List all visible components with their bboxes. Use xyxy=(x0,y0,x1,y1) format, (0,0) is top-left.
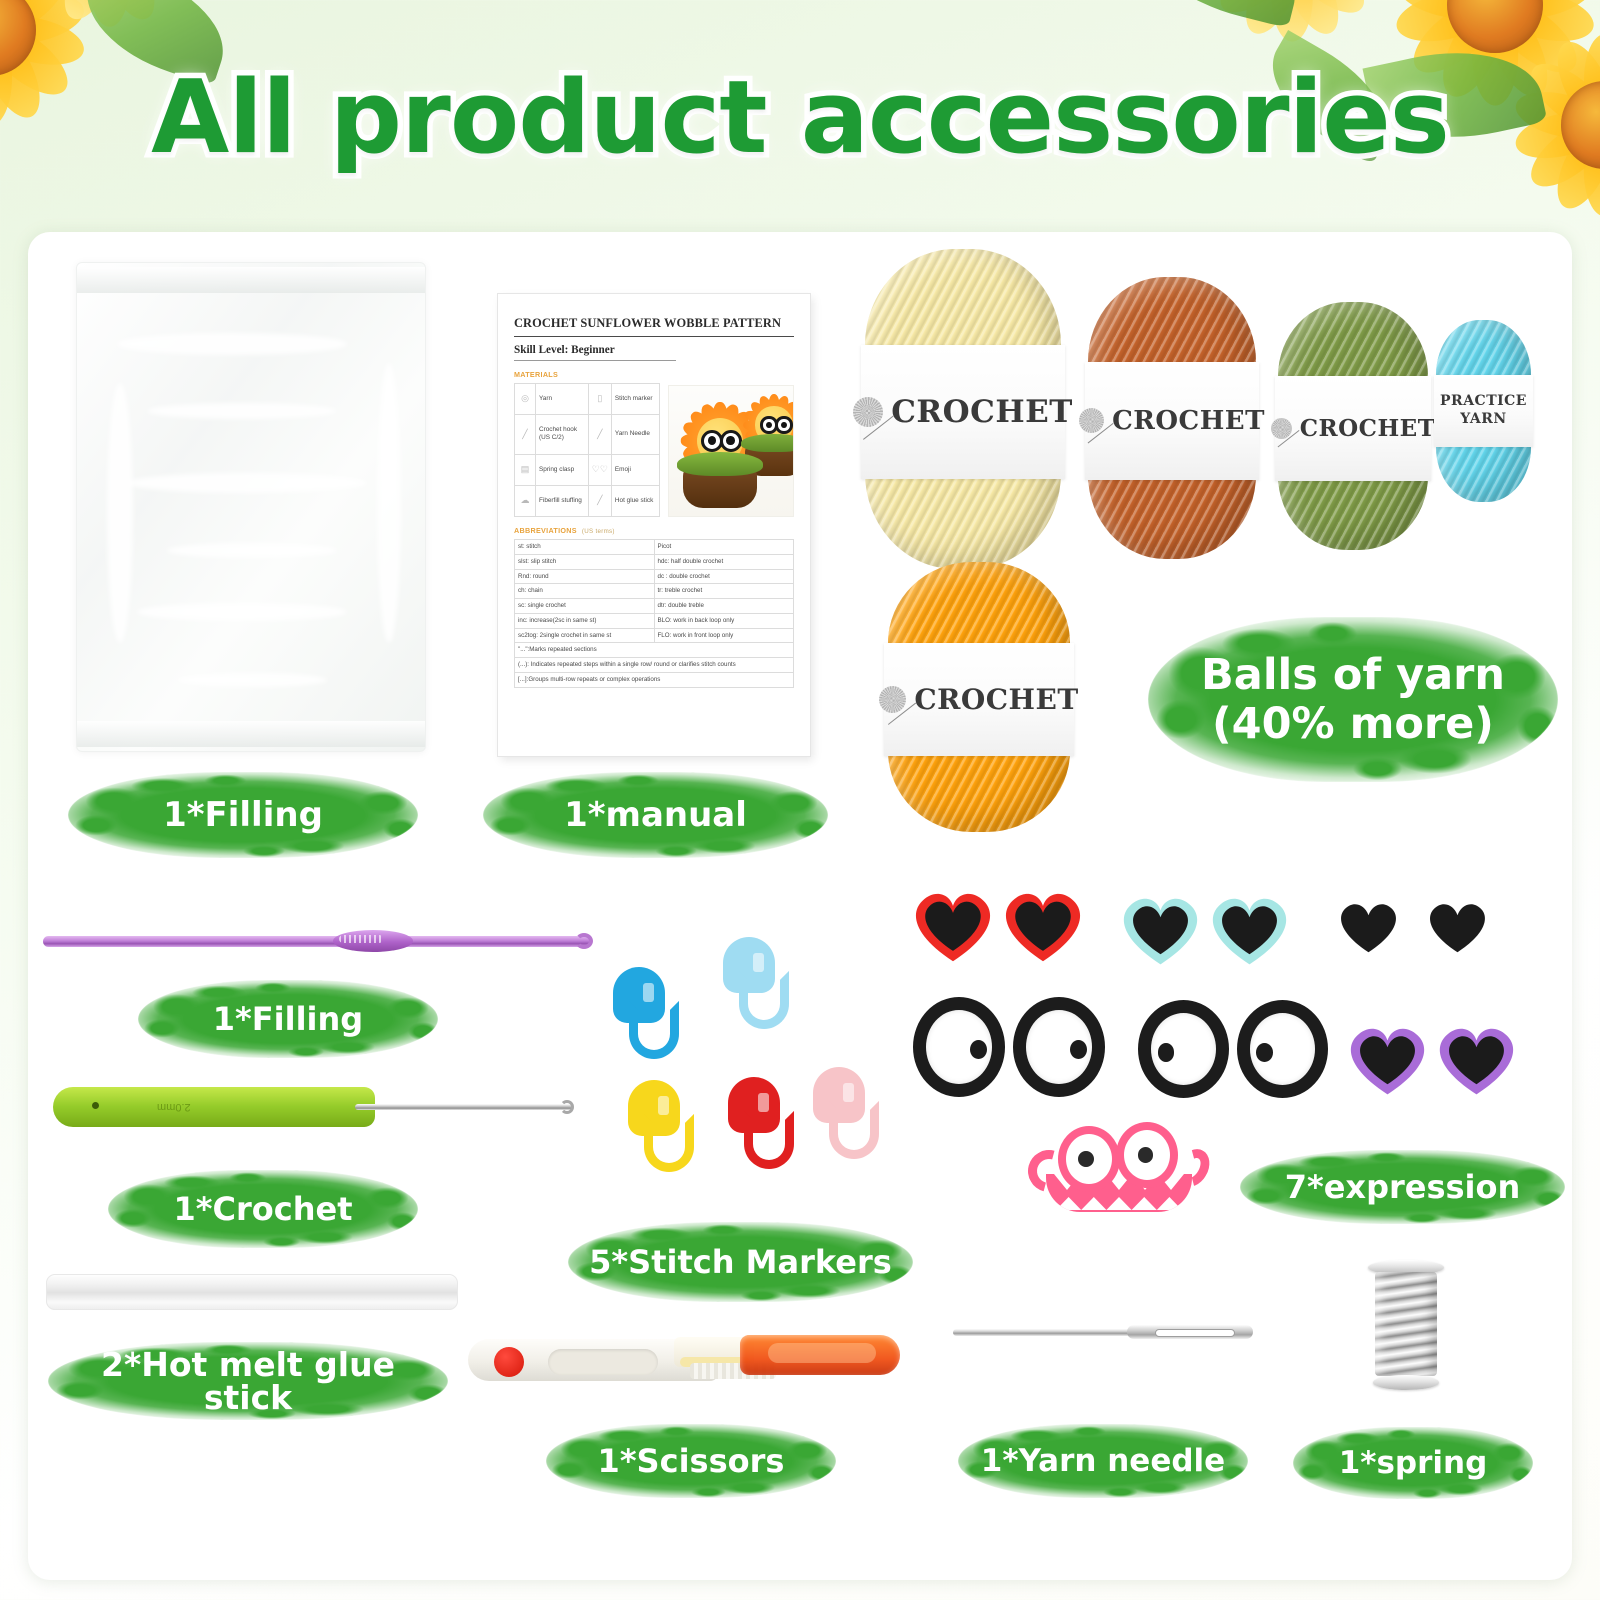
stitch-marker-yellow xyxy=(628,1080,718,1180)
spring-clasp xyxy=(1368,1260,1444,1390)
sunflower-petal xyxy=(1490,0,1599,50)
manual-abbreviations-heading: ABBREVIATIONS(US terms) xyxy=(514,526,794,535)
crochet-hook-icon: ╱ xyxy=(515,415,536,454)
yarn-label-text: CROCHET xyxy=(1300,415,1436,442)
sunflower-petal xyxy=(0,0,12,30)
label-hook-purple: 1*Filling xyxy=(138,980,438,1058)
abbr-right: hdc: half double crochet xyxy=(654,554,794,569)
abbreviation-row: sc2tog: 2single crochet in same stFLO: w… xyxy=(515,628,794,643)
abbr-left: st: stitch xyxy=(515,540,655,555)
sunflower-petal xyxy=(92,0,165,26)
stitch-marker-red xyxy=(728,1077,818,1177)
abbreviation-row: ch: chaintr: treble crochet xyxy=(515,584,794,599)
seam-ripper-scissors xyxy=(468,1327,898,1391)
yarn-ball-orange: CROCHET xyxy=(888,562,1070,832)
expression-cyan-heart-glasses xyxy=(1116,892,1294,966)
abbr-right: dtr: double treble xyxy=(654,599,794,614)
label-hook-green: 1*Crochet xyxy=(108,1170,418,1248)
label-expressions: 7*expression xyxy=(1240,1150,1565,1224)
yarn-ball-rust: CROCHET xyxy=(1088,277,1256,559)
sunflower-petal xyxy=(98,0,190,9)
sunflower-petal xyxy=(1402,0,1510,23)
manual-skill-level: Skill Level: Beginner xyxy=(514,344,676,361)
yarn-label-text: CROCHET xyxy=(914,683,1078,716)
materials-left-text: Spring clasp xyxy=(536,454,589,485)
heart-lens xyxy=(1205,892,1294,966)
manual-product-photo xyxy=(668,385,794,517)
sunflower-petal xyxy=(1210,0,1305,24)
manual-materials-heading: MATERIALS xyxy=(514,370,794,379)
abbreviation-row: st: stitchPicot xyxy=(515,540,794,555)
sunflower-petal xyxy=(1280,0,1375,24)
expression-googly-eyes-b xyxy=(1138,1000,1328,1098)
abbr-left: ch: chain xyxy=(515,584,655,599)
page-title: All product accessories xyxy=(151,58,1449,176)
hook-size-label: 2.0mm xyxy=(157,1101,191,1113)
yarn-ball-cream: CROCHET xyxy=(865,249,1061,569)
stitch-marker-light-blue xyxy=(723,937,813,1037)
yarn-skein-icon xyxy=(1079,408,1104,433)
hot-melt-glue-stick xyxy=(46,1274,458,1310)
abbr-right: tr: treble crochet xyxy=(654,584,794,599)
abbreviation-row: inc: increase(2sc in same st)BLO: work i… xyxy=(515,613,794,628)
yarn-skein-icon xyxy=(879,686,906,713)
abbr-note: (...): Indicates repeated steps within a… xyxy=(515,658,794,673)
materials-right-text: Yarn Needle xyxy=(611,415,659,454)
purple-crochet-hook xyxy=(43,924,591,958)
abbreviations-table: st: stitchPicotslst: slip stitchhdc: hal… xyxy=(514,539,794,688)
yarn-label-text: PRACTICE YARN xyxy=(1434,393,1533,428)
sunflower-petal xyxy=(1472,0,1518,5)
abbr-right: Picot xyxy=(654,540,794,555)
heart-lens xyxy=(1413,890,1502,964)
label-balls-of-yarn: Balls of yarn (40% more) xyxy=(1148,617,1558,782)
sunflower-petal xyxy=(0,0,88,51)
yarn-skein-icon xyxy=(1271,418,1292,439)
sunflower-petal xyxy=(1430,0,1515,15)
heart-lens xyxy=(1116,892,1205,966)
heart-lens xyxy=(1343,1022,1432,1096)
expression-pink-monster-face xyxy=(1028,1120,1206,1212)
expression-white-heart-glasses xyxy=(1324,890,1502,964)
label-manual: 1*manual xyxy=(483,772,828,858)
sunflower-petal xyxy=(0,0,79,47)
yarn-skein-icon xyxy=(853,397,883,427)
heart-lens xyxy=(908,887,998,963)
label-filling-bag: 1*Filling xyxy=(68,772,418,858)
sunflower-petal xyxy=(1236,0,1311,41)
abbr-right: FLO: work in front loop only xyxy=(654,628,794,643)
yarn-label-text: CROCHET xyxy=(1112,406,1265,436)
expression-googly-eyes-a xyxy=(913,997,1105,1097)
materials-right-text: Stitch marker xyxy=(611,384,659,415)
materials-left-text: Fiberfill stuffing xyxy=(536,485,589,516)
materials-row: ◎Yarn▯Stitch marker xyxy=(515,384,660,415)
heart-lens xyxy=(1432,1022,1521,1096)
yarn-ball-green: CROCHET xyxy=(1278,302,1428,550)
abbreviation-row: slst: slip stitchhdc: half double croche… xyxy=(515,554,794,569)
abbreviation-note-row: (...): Indicates repeated steps within a… xyxy=(515,658,794,673)
abbr-left: sc2tog: 2single crochet in same st xyxy=(515,628,655,643)
expression-red-heart-glasses xyxy=(908,887,1088,963)
product-accessories-card: 1*Filling CROCHET SUNFLOWER WOBBLE PATTE… xyxy=(28,232,1572,1580)
sunflower-petal xyxy=(0,0,4,47)
materials-row: ╱Crochet hook (US C/2)╱Yarn Needle xyxy=(515,415,660,454)
abbreviation-row: Rnd: rounddc : double crochet xyxy=(515,569,794,584)
materials-right-text: Emoji xyxy=(611,454,659,485)
spring-clasp-icon: ▤ xyxy=(515,454,536,485)
heart-lens xyxy=(998,887,1088,963)
materials-left-text: Yarn xyxy=(536,384,589,415)
yarn-label-text: CROCHET xyxy=(891,394,1073,430)
abbr-left: inc: increase(2sc in same st) xyxy=(515,613,655,628)
sunflower-petal xyxy=(1392,0,1501,28)
sunflower-petal xyxy=(90,0,130,26)
label-scissors: 1*Scissors xyxy=(546,1424,836,1498)
fiberfill-icon: ☁ xyxy=(515,485,536,516)
materials-table: ◎Yarn▯Stitch marker╱Crochet hook (US C/2… xyxy=(514,383,660,517)
materials-row: ▤Spring clasp♡♡Emoji xyxy=(515,454,660,485)
stitch-marker-pink xyxy=(813,1067,903,1167)
sunflower-petal xyxy=(55,0,128,26)
pattern-manual-sheet: CROCHET SUNFLOWER WOBBLE PATTERN Skill L… xyxy=(498,294,810,756)
yarn-needle xyxy=(953,1322,1253,1342)
emoji-glasses-icon: ♡♡ xyxy=(588,454,611,485)
materials-left-text: Crochet hook (US C/2) xyxy=(536,415,589,454)
abbr-note: "...":Marks repeated sections xyxy=(515,643,794,658)
yarn-skein-icon: ◎ xyxy=(515,384,536,415)
glue-stick-icon: ╱ xyxy=(588,485,611,516)
abbr-right: dc : double crochet xyxy=(654,569,794,584)
materials-row: ☁Fiberfill stuffing╱Hot glue stick xyxy=(515,485,660,516)
sunflower-petal xyxy=(1272,0,1313,41)
sunflower-petal xyxy=(1274,0,1349,41)
stitch-marker-icon: ▯ xyxy=(588,384,611,415)
label-spring: 1*spring xyxy=(1293,1427,1533,1499)
yarn-ball-practice: PRACTICE YARN xyxy=(1436,320,1531,502)
label-yarn-needle: 1*Yarn needle xyxy=(958,1424,1248,1498)
label-glue-stick: 2*Hot melt glue stick xyxy=(48,1342,448,1420)
abbreviation-note-row: [...]:Groups multi-row repeats or comple… xyxy=(515,672,794,687)
expression-purple-heart-glasses xyxy=(1343,1022,1521,1096)
abbr-right: BLO: work in back loop only xyxy=(654,613,794,628)
manual-title: CROCHET SUNFLOWER WOBBLE PATTERN xyxy=(514,316,794,337)
abbr-left: sc: single crochet xyxy=(515,599,655,614)
sunflower-petal xyxy=(1392,0,1501,50)
abbr-note: [...]:Groups multi-row repeats or comple… xyxy=(515,672,794,687)
sunflower-petal xyxy=(1474,0,1559,15)
green-crochet-hook: 2.0mm xyxy=(53,1087,573,1127)
abbr-left: Rnd: round xyxy=(515,569,655,584)
materials-right-text: Hot glue stick xyxy=(611,485,659,516)
sunflower-petal xyxy=(0,0,10,40)
page-title-container: All product accessories xyxy=(0,58,1600,176)
fiberfill-bag xyxy=(76,262,426,752)
abbreviation-note-row: "...":Marks repeated sections xyxy=(515,643,794,658)
sunflower-petal xyxy=(0,0,51,40)
abbr-left: slst: slip stitch xyxy=(515,554,655,569)
sunflower-petal xyxy=(30,0,122,9)
stitch-marker-blue xyxy=(613,967,703,1067)
yarn-needle-icon: ╱ xyxy=(588,415,611,454)
sunflower-petal xyxy=(1481,0,1589,23)
label-stitch-markers: 5*Stitch Markers xyxy=(568,1222,913,1302)
heart-lens xyxy=(1324,890,1413,964)
abbreviation-row: sc: single crochetdtr: double treble xyxy=(515,599,794,614)
sunflower-petal xyxy=(1490,0,1599,28)
